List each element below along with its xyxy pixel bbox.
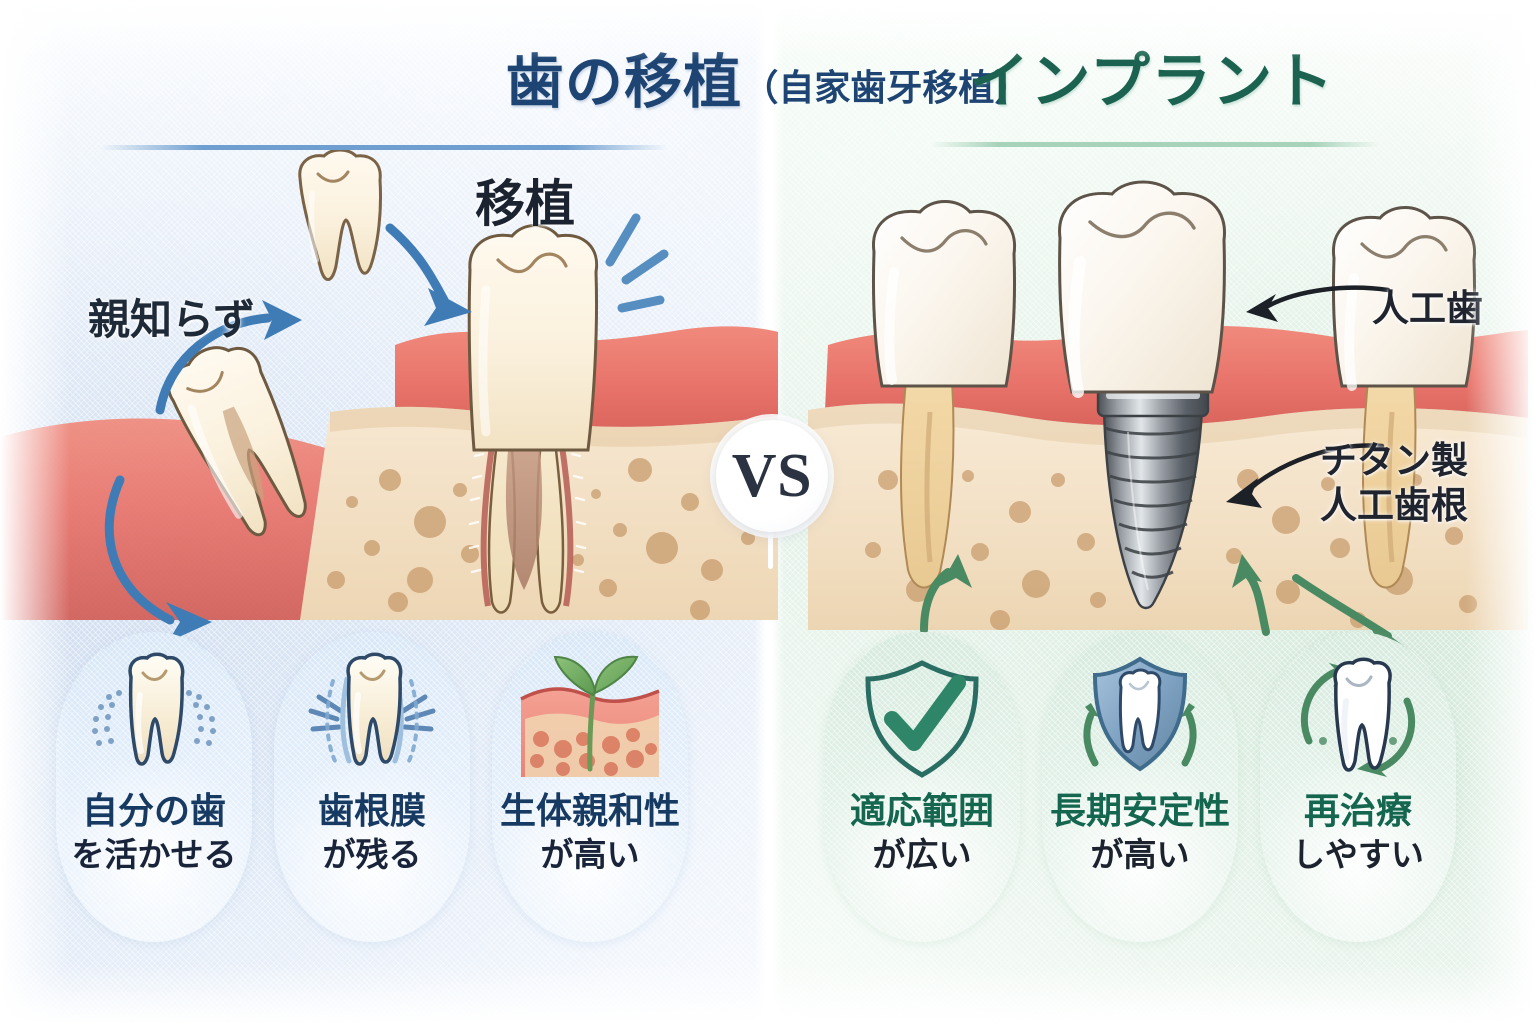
card-label-line1: 歯根膜 bbox=[318, 792, 426, 831]
right-benefit-cards: 適応範囲 が広い bbox=[824, 632, 1456, 942]
left-title-main: 歯の移植 bbox=[506, 54, 743, 112]
card-periodontal-ligament[interactable]: 歯根膜 が残る bbox=[274, 632, 470, 942]
left-benefit-cards: 自分の歯 を活かせる bbox=[56, 632, 688, 942]
infographic-root: 歯の移植（自家歯牙移植） インプラント 親知らず 移植 人工歯 チタン製 人工歯… bbox=[0, 0, 1536, 1024]
annotation-transplant: 移植 bbox=[475, 176, 575, 232]
card-label-line1: 長期安定性 bbox=[1050, 792, 1230, 831]
card-label: 適応範囲 が広い bbox=[850, 792, 994, 874]
sprout-in-gum-icon bbox=[515, 654, 665, 786]
right-title-main: インプラント bbox=[969, 52, 1334, 112]
card-label: 自分の歯 を活かせる bbox=[72, 792, 237, 874]
card-label-line1: 再治療 bbox=[1292, 792, 1424, 831]
tooth-radiating-icon bbox=[79, 654, 229, 786]
annotation-wisdom-tooth: 親知らず bbox=[88, 296, 255, 343]
card-label-line2: が残る bbox=[318, 837, 426, 874]
vs-badge: VS bbox=[716, 420, 828, 532]
card-label: 生体親和性 が高い bbox=[500, 792, 680, 874]
card-long-term-stability[interactable]: 長期安定性 が高い bbox=[1042, 632, 1238, 942]
shield-check-icon bbox=[852, 654, 992, 786]
card-label-line2: が広い bbox=[850, 837, 994, 874]
card-label-line1: 適応範囲 bbox=[850, 792, 994, 831]
annotation-titanium-root: チタン製 人工歯根 bbox=[1320, 440, 1468, 527]
left-title-underline bbox=[100, 145, 668, 150]
dental-implant-illustration bbox=[768, 180, 1536, 630]
card-biocompatibility[interactable]: 生体親和性 が高い bbox=[492, 632, 688, 942]
card-label-line2: を活かせる bbox=[72, 837, 237, 874]
card-retreatment[interactable]: 再治療 しやすい bbox=[1260, 632, 1456, 942]
card-label-line1: 自分の歯 bbox=[72, 792, 237, 831]
tooth-recycle-icon bbox=[1283, 654, 1433, 786]
card-label: 長期安定性 が高い bbox=[1050, 792, 1230, 874]
card-label-line2: が高い bbox=[500, 837, 680, 874]
right-panel-title: インプラント bbox=[768, 52, 1536, 112]
tooth-transplant-illustration bbox=[0, 150, 768, 620]
annotation-titanium-root-line2: 人工歯根 bbox=[1320, 485, 1468, 526]
card-label: 再治療 しやすい bbox=[1292, 792, 1424, 874]
shield-tooth-icon bbox=[1065, 654, 1215, 786]
card-label-line1: 生体親和性 bbox=[500, 792, 680, 831]
card-label: 歯根膜 が残る bbox=[318, 792, 426, 874]
card-label-line2: が高い bbox=[1050, 837, 1230, 874]
card-wide-indication[interactable]: 適応範囲 が広い bbox=[824, 632, 1020, 942]
vs-label: VS bbox=[732, 445, 813, 507]
annotation-titanium-root-line1: チタン製 bbox=[1320, 440, 1468, 481]
card-label-line2: しやすい bbox=[1292, 837, 1424, 874]
card-own-tooth[interactable]: 自分の歯 を活かせる bbox=[56, 632, 252, 942]
right-title-underline bbox=[930, 142, 1380, 147]
tooth-periodontal-ligament-icon bbox=[297, 654, 447, 786]
annotation-artificial-tooth: 人工歯 bbox=[1372, 288, 1483, 329]
